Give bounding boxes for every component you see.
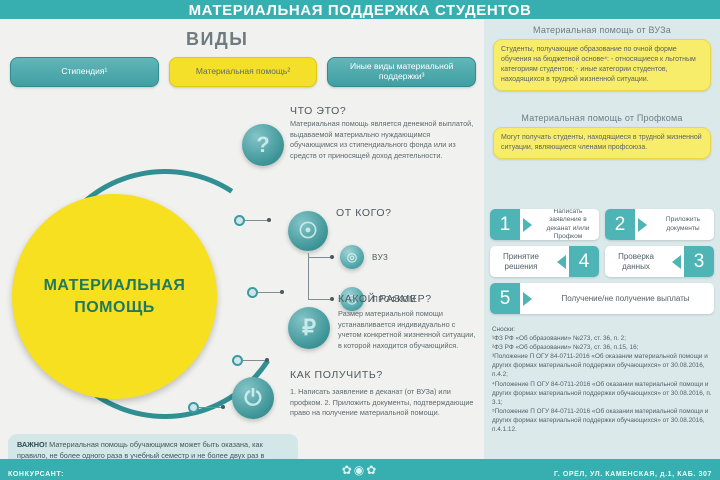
leaf-label-vuz: ВУЗ [372, 253, 388, 262]
page-header: МАТЕРИАЛЬНАЯ ПОДДЕРЖКА СТУДЕНТОВ [0, 0, 720, 19]
profkom-card-text: Могут получать студенты, находящиеся в т… [493, 127, 711, 159]
tree-line-branch-2 [308, 299, 332, 300]
step-3[interactable]: 3 Проверка данных [605, 246, 714, 277]
types-section-title: ВИДЫ [186, 29, 248, 50]
arc-node-3 [232, 355, 243, 366]
tab-stipendia[interactable]: Стипендия¹ [10, 57, 159, 87]
person-arrow-glyph: ☉ [298, 218, 318, 244]
connector-2 [258, 292, 282, 293]
steps-row-1: 1 Написать заявление в деканат и/или Про… [490, 209, 714, 240]
section-heading-from-whom: ОТ КОГО? [336, 207, 392, 219]
connector-dot-4 [221, 405, 225, 409]
power-icon: ⏻ [232, 377, 274, 419]
vuz-glyph: ◎ [347, 250, 357, 264]
step-3-text: Проверка данных [605, 252, 667, 272]
power-glyph: ⏻ [244, 385, 261, 411]
tree-dot-1 [330, 255, 334, 259]
main-column: ВИДЫ Стипендия¹ Материальная помощь² Ины… [0, 19, 484, 459]
step-1-number: 1 [490, 209, 520, 240]
step-4-number: 4 [569, 246, 599, 277]
tree-dot-2 [330, 297, 334, 301]
hero-circle: МАТЕРИАЛЬНАЯ ПОМОЩЬ [12, 194, 217, 399]
vuz-card-text: Студенты, получающие образование по очно… [493, 39, 711, 91]
step-4-text: Принятие решения [490, 252, 552, 272]
page-title: МАТЕРИАЛЬНАЯ ПОДДЕРЖКА СТУДЕНТОВ [189, 3, 532, 18]
hero-line-2: ПОМОЩЬ [74, 297, 155, 319]
tree-line-vertical [308, 253, 309, 299]
important-label: ВАЖНО! [17, 440, 47, 449]
footnote-1: ¹ФЗ РФ «Об образовании» №273, ст. 36, п.… [492, 334, 714, 343]
right-panel: Материальная помощь от ВУЗа Студенты, по… [484, 19, 720, 459]
person-arrow-icon: ☉ [288, 211, 328, 251]
step-5-number: 5 [490, 283, 520, 314]
connector-dot-3 [265, 358, 269, 362]
section-heading-amount: КАКОЙ РАЗМЕР? [338, 293, 432, 305]
step-2[interactable]: 2 Приложить документы [605, 209, 714, 240]
footnote-5: ⁵Положение П ОГУ 84-0711-2016 «Об оказан… [492, 407, 714, 434]
step-3-number: 3 [684, 246, 714, 277]
connector-4 [199, 407, 223, 408]
types-tabs: Стипендия¹ Материальная помощь² Иные вид… [10, 57, 476, 87]
connector-dot-2 [280, 290, 284, 294]
arc-node-4 [188, 402, 199, 413]
section-body-amount: Размер материальной помощи устанавливает… [338, 309, 480, 351]
step-2-arrow-icon [638, 218, 649, 232]
question-mark-icon: ? [242, 124, 284, 166]
step-1[interactable]: 1 Написать заявление в деканат и/или Про… [490, 209, 599, 240]
tab-materialnaya-pomoshch[interactable]: Материальная помощь² [169, 57, 318, 87]
profkom-card-title: Материальная помощь от Профкома [484, 113, 720, 123]
step-1-text: Написать заявление в деканат и/или Профк… [537, 209, 599, 240]
footnote-3: ³Положение П ОГУ 84-0711-2016 «Об оказан… [492, 352, 714, 379]
connector-dot-1 [267, 218, 271, 222]
step-1-arrow-icon [523, 218, 534, 232]
ruble-glyph: ₽ [302, 315, 316, 341]
step-4[interactable]: 4 Принятие решения [490, 246, 599, 277]
hero-line-1: МАТЕРИАЛЬНАЯ [44, 275, 186, 297]
steps-row-2: 4 Принятие решения 3 Проверка данных [490, 246, 714, 277]
step-5-arrow-icon [523, 292, 534, 306]
step-3-arrow-icon [670, 255, 681, 269]
vuz-card-title: Материальная помощь от ВУЗа [484, 25, 720, 35]
section-body-what-is-it: Материальная помощь является денежной вы… [290, 119, 478, 161]
connector-1 [245, 220, 269, 221]
footer-logo-icon: ✿◉✿ [342, 463, 379, 477]
arc-node-2 [247, 287, 258, 298]
arc-node-1 [234, 215, 245, 226]
footer-contestant-label: КОНКУРСАНТ: [8, 471, 64, 478]
tree-line-branch-1 [308, 257, 332, 258]
ruble-icon: ₽ [288, 307, 330, 349]
step-5-text: Получение/не получение выплаты [537, 294, 714, 304]
footnotes-title: Сноски: [492, 325, 714, 334]
steps-row-3: 5 Получение/не получение выплаты [490, 283, 714, 314]
tab-inye-vidy[interactable]: Иные виды материальной поддержки³ [327, 57, 476, 87]
page-footer: КОНКУРСАНТ: ✿◉✿ Г. ОРЁЛ, УЛ. КАМЕНСКАЯ, … [0, 459, 720, 480]
question-mark-glyph: ? [256, 132, 269, 158]
connector-3 [243, 360, 267, 361]
footer-address: Г. ОРЁЛ, УЛ. КАМЕНСКАЯ, д.1, КАБ. 307 [554, 471, 712, 478]
footnote-2: ²ФЗ РФ «Об образовании» №273, ст. 36, п.… [492, 343, 714, 352]
section-heading-what-is-it: ЧТО ЭТО? [290, 105, 346, 117]
footnotes-block: Сноски: ¹ФЗ РФ «Об образовании» №273, ст… [492, 325, 714, 434]
infographic-page: МАТЕРИАЛЬНАЯ ПОДДЕРЖКА СТУДЕНТОВ ВИДЫ Ст… [0, 0, 720, 480]
step-5[interactable]: 5 Получение/не получение выплаты [490, 283, 714, 314]
vuz-node-icon: ◎ [340, 245, 364, 269]
section-body-how-to-get: 1. Написать заявление в деканат (от ВУЗа… [290, 387, 480, 419]
section-heading-how-to-get: КАК ПОЛУЧИТЬ? [290, 369, 383, 381]
footnote-4: ⁴Положение П ОГУ 84-0711-2016 «Об оказан… [492, 380, 714, 407]
step-4-arrow-icon [555, 255, 566, 269]
step-2-text: Приложить документы [652, 216, 714, 232]
steps-flow: 1 Написать заявление в деканат и/или Про… [490, 209, 714, 320]
step-2-number: 2 [605, 209, 635, 240]
